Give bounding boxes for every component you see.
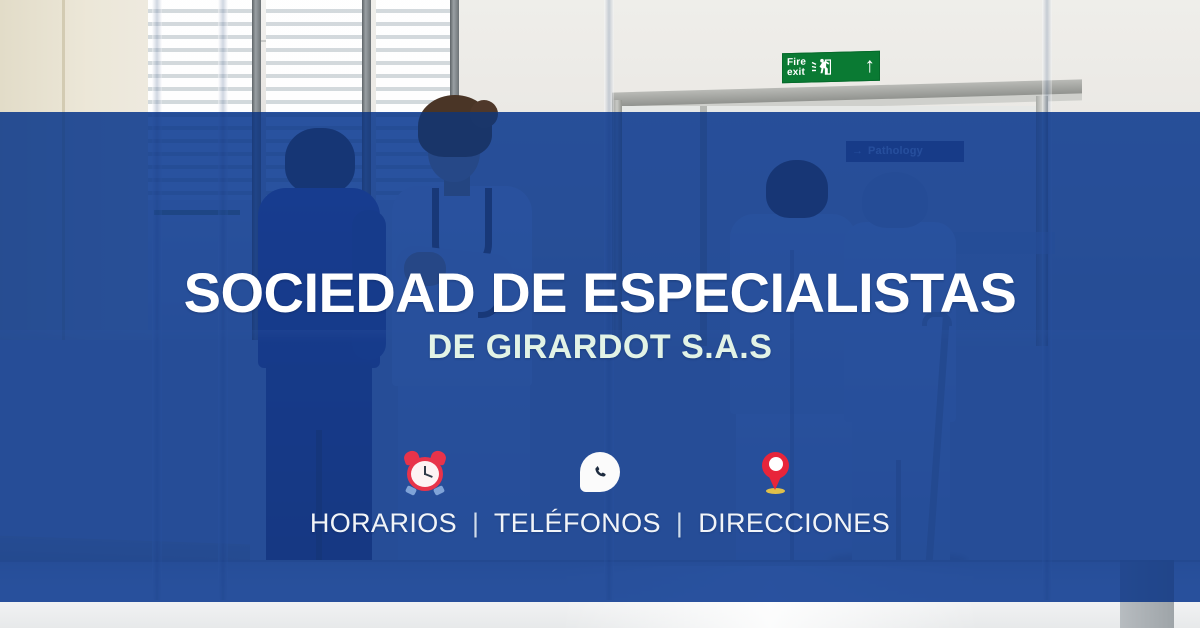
phone-handset-glyph: [591, 462, 610, 482]
fire-exit-label-line2: exit: [787, 68, 806, 79]
fire-exit-sign: Fire exit ↑: [782, 51, 880, 84]
banner-content: SOCIEDAD DE ESPECIALISTAS DE GIRARDOT S.…: [0, 112, 1200, 602]
page-subtitle: DE GIRARDOT S.A.S: [184, 328, 1017, 366]
page-title: SOCIEDAD DE ESPECIALISTAS: [184, 264, 1017, 322]
footer-separator-1: |: [465, 508, 486, 538]
footer-link-telefonos[interactable]: TELÉFONOS: [494, 508, 661, 538]
footer-separator-2: |: [669, 508, 690, 538]
title-block: SOCIEDAD DE ESPECIALISTAS DE GIRARDOT S.…: [184, 264, 1017, 366]
footer-icon-row: [365, 450, 835, 494]
whatsapp-icon[interactable]: [578, 450, 622, 494]
hospital-banner: Fire exit ↑ → Pathology: [0, 0, 1200, 628]
footer-link-direcciones[interactable]: DIRECCIONES: [698, 508, 890, 538]
footer-link-horarios[interactable]: HORARIOS: [310, 508, 457, 538]
alarm-clock-icon[interactable]: [403, 450, 447, 494]
map-pin-icon[interactable]: [753, 450, 797, 494]
running-man-icon: [809, 56, 831, 79]
up-arrow-icon: ↑: [865, 57, 876, 75]
footer-links: HORARIOS | TELÉFONOS | DIRECCIONES: [310, 508, 890, 539]
